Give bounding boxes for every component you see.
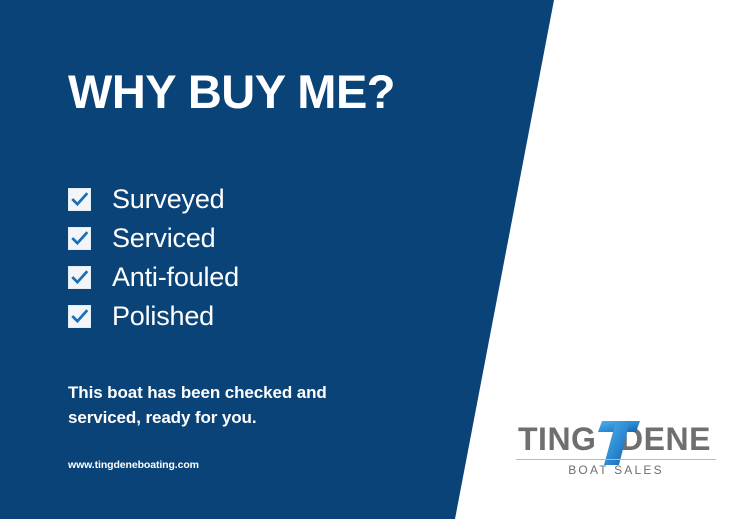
list-item: Surveyed [68, 180, 398, 219]
checkbox-checked[interactable] [68, 266, 91, 289]
list-item: Serviced [68, 219, 398, 258]
list-item-label: Polished [112, 303, 214, 330]
checkmark-icon [71, 231, 89, 247]
list-item-label: Surveyed [112, 186, 224, 213]
logo-divider [516, 459, 716, 460]
website-url[interactable]: www.tingdeneboating.com [68, 459, 199, 471]
checkbox-checked[interactable] [68, 188, 91, 211]
logo-word-left: TING [518, 422, 596, 456]
page-title: WHY BUY ME? [68, 67, 395, 116]
logo-wordmark: TING DENE [516, 422, 716, 456]
list-item: Anti-fouled [68, 258, 398, 297]
list-item-label: Serviced [112, 225, 215, 252]
body-copy-line-1: This boat has been checked and [68, 381, 378, 406]
body-copy: This boat has been checked and serviced,… [68, 381, 378, 430]
tingdene-logo[interactable]: TING DENE BOAT SALES [516, 410, 716, 480]
promo-card: WHY BUY ME? Surveyed Serviced [0, 0, 733, 519]
body-copy-line-2: serviced, ready for you. [68, 406, 378, 431]
checkmark-icon [71, 192, 89, 208]
list-item-label: Anti-fouled [112, 264, 239, 291]
feature-checklist: Surveyed Serviced Anti-fouled [68, 180, 398, 336]
checkbox-checked[interactable] [68, 227, 91, 250]
list-item: Polished [68, 297, 398, 336]
checkmark-icon [71, 309, 89, 325]
checkmark-icon [71, 270, 89, 286]
checkbox-checked[interactable] [68, 305, 91, 328]
logo-tagline: BOAT SALES [516, 462, 716, 478]
